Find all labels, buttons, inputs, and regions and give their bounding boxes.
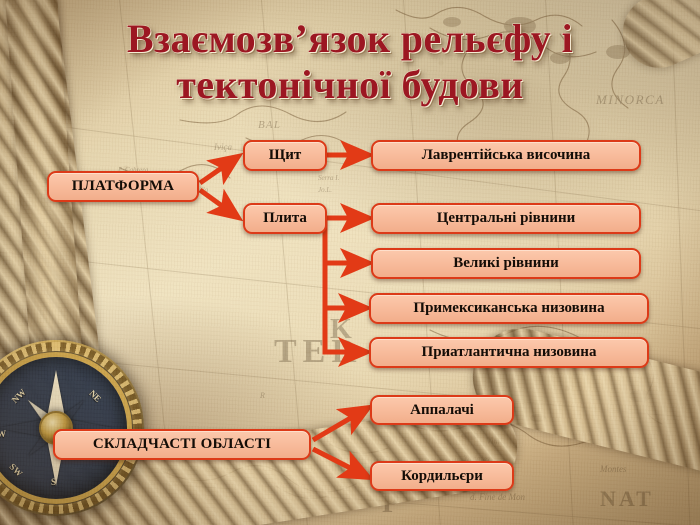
- node-velyki[interactable]: Великі рівнини: [371, 248, 641, 279]
- node-skladchasti-label: СКЛАДЧАСТІ ОБЛАСТІ: [93, 436, 271, 453]
- node-prymeksykanska[interactable]: Примексиканська низовина: [369, 293, 649, 324]
- node-pryatlantychna-label: Приатлантична низовина: [422, 344, 597, 361]
- node-pryatlantychna[interactable]: Приатлантична низовина: [369, 337, 649, 368]
- node-platforma-label: ПЛАТФОРМА: [72, 178, 174, 195]
- node-plyta-label: Плита: [263, 210, 307, 227]
- node-shchyt-label: Щит: [269, 147, 301, 164]
- node-lavrentiyska[interactable]: Лаврентійська височина: [371, 140, 641, 171]
- node-kordylyery-label: Кордильєри: [401, 468, 483, 485]
- node-appalachi-label: Аппалачі: [410, 402, 474, 419]
- node-tsentralni[interactable]: Центральні рівнини: [371, 203, 641, 234]
- slide: MINORCA BAL Iviça P. Cabrera Pentilla Se…: [0, 0, 700, 525]
- diagram-nodes: ПЛАТФОРМА Щит Плита Лаврентійська височи…: [0, 0, 700, 525]
- node-kordylyery[interactable]: Кордильєри: [370, 461, 514, 491]
- node-skladchasti[interactable]: СКЛАДЧАСТІ ОБЛАСТІ: [53, 429, 311, 460]
- node-shchyt[interactable]: Щит: [243, 140, 327, 171]
- node-tsentralni-label: Центральні рівнини: [437, 210, 576, 227]
- node-appalachi[interactable]: Аппалачі: [370, 395, 514, 425]
- node-prymeksykanska-label: Примексиканська низовина: [413, 300, 604, 317]
- node-velyki-label: Великі рівнини: [453, 255, 558, 272]
- node-platforma[interactable]: ПЛАТФОРМА: [47, 171, 199, 202]
- node-plyta[interactable]: Плита: [243, 203, 327, 234]
- node-lavrentiyska-label: Лаврентійська височина: [422, 147, 591, 164]
